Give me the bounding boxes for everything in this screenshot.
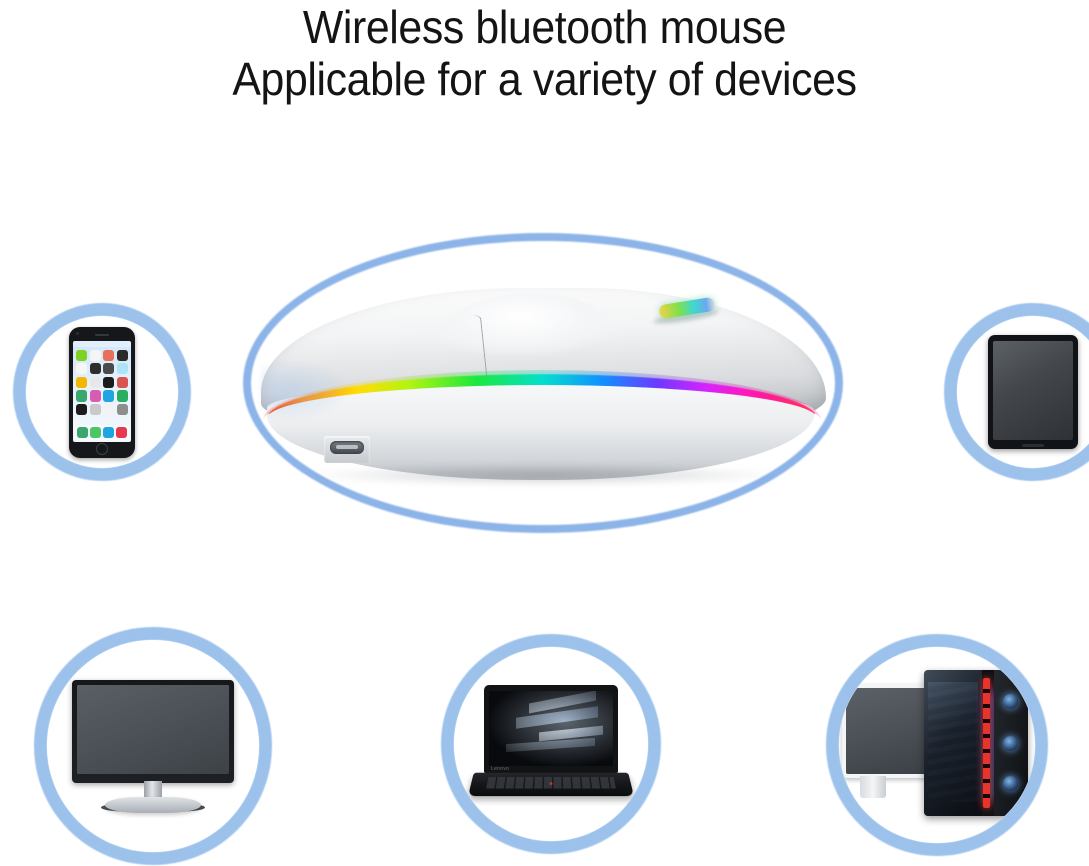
monitor-icon xyxy=(72,680,234,812)
laptop-brand-logo: Lenovo xyxy=(491,766,509,772)
phone-screen xyxy=(73,341,131,442)
app-icon xyxy=(90,377,101,388)
app-icon xyxy=(117,350,128,361)
app-icon xyxy=(117,377,128,388)
desktop-tower-icon xyxy=(924,670,1028,816)
device-badge-desktop-pc xyxy=(826,634,1048,856)
home-button-icon xyxy=(96,443,108,455)
app-icon xyxy=(76,363,87,374)
trackpoint-icon xyxy=(549,782,552,785)
laptop-icon: Lenovo xyxy=(471,685,631,803)
mouse-front-reflection xyxy=(261,360,351,420)
app-icon xyxy=(76,404,87,415)
phone-dock xyxy=(75,425,129,440)
tower-glass-panel xyxy=(924,670,982,816)
dock-app-icon xyxy=(77,427,88,438)
app-icon xyxy=(76,350,87,361)
badge-inner xyxy=(839,647,1035,843)
mouse-contact-shadow xyxy=(309,464,779,486)
badge-inner xyxy=(957,316,1089,468)
tower-front-panel xyxy=(994,670,1028,816)
badge-inner: Lenovo xyxy=(454,647,648,841)
app-icon xyxy=(76,377,87,388)
earpiece-icon xyxy=(95,334,109,336)
product-hero xyxy=(243,233,843,533)
title-line-secondary: Applicable for a variety of devices xyxy=(38,53,1051,105)
tablet-screen xyxy=(993,341,1073,440)
device-badge-smartphone xyxy=(13,303,191,481)
monitor-stand-base xyxy=(105,797,201,813)
laptop-keyboard-base xyxy=(468,773,634,796)
app-icon xyxy=(76,390,87,401)
app-icon xyxy=(90,390,101,401)
app-icon xyxy=(103,350,114,361)
wireless-mouse-product-image xyxy=(261,288,826,483)
smartphone-icon xyxy=(69,327,135,458)
monitor-bezel xyxy=(72,680,234,783)
app-icon xyxy=(103,390,114,401)
dock-app-icon xyxy=(103,427,114,438)
pc-monitor-stand xyxy=(860,776,886,798)
tower-fan-icon xyxy=(1003,736,1018,751)
monitor-screen xyxy=(77,685,229,774)
desktop-pc-scene xyxy=(842,670,1032,820)
device-badge-monitor xyxy=(34,627,272,865)
app-icon xyxy=(117,363,128,374)
title-line-primary: Wireless bluetooth mouse xyxy=(38,0,1051,53)
front-camera-icon xyxy=(76,332,79,335)
dock-app-icon xyxy=(90,427,101,438)
screen-vignette xyxy=(489,691,613,766)
laptop-lid: Lenovo xyxy=(484,685,618,773)
tower-fan-icon xyxy=(1003,694,1018,709)
badge-inner xyxy=(26,316,178,468)
tower-fan-icon xyxy=(1003,776,1018,791)
tablet-icon xyxy=(988,335,1078,449)
app-icon xyxy=(90,350,101,361)
tower-rgb-vent-strip xyxy=(983,678,990,808)
page-title: Wireless bluetooth mouse Applicable for … xyxy=(0,0,1089,105)
app-icon xyxy=(90,404,101,415)
app-icon xyxy=(117,390,128,401)
tablet-home-button-icon xyxy=(1022,444,1044,447)
app-icon xyxy=(103,363,114,374)
usb-c-port-pin xyxy=(336,445,358,449)
laptop-screen xyxy=(489,691,613,766)
phone-app-grid xyxy=(73,347,131,416)
device-badge-tablet xyxy=(944,303,1089,481)
device-badge-laptop: Lenovo xyxy=(441,634,661,854)
app-icon xyxy=(117,404,128,415)
badge-inner xyxy=(47,640,259,852)
app-icon xyxy=(103,404,114,415)
app-icon xyxy=(103,377,114,388)
dock-app-icon xyxy=(116,427,127,438)
app-icon xyxy=(90,363,101,374)
